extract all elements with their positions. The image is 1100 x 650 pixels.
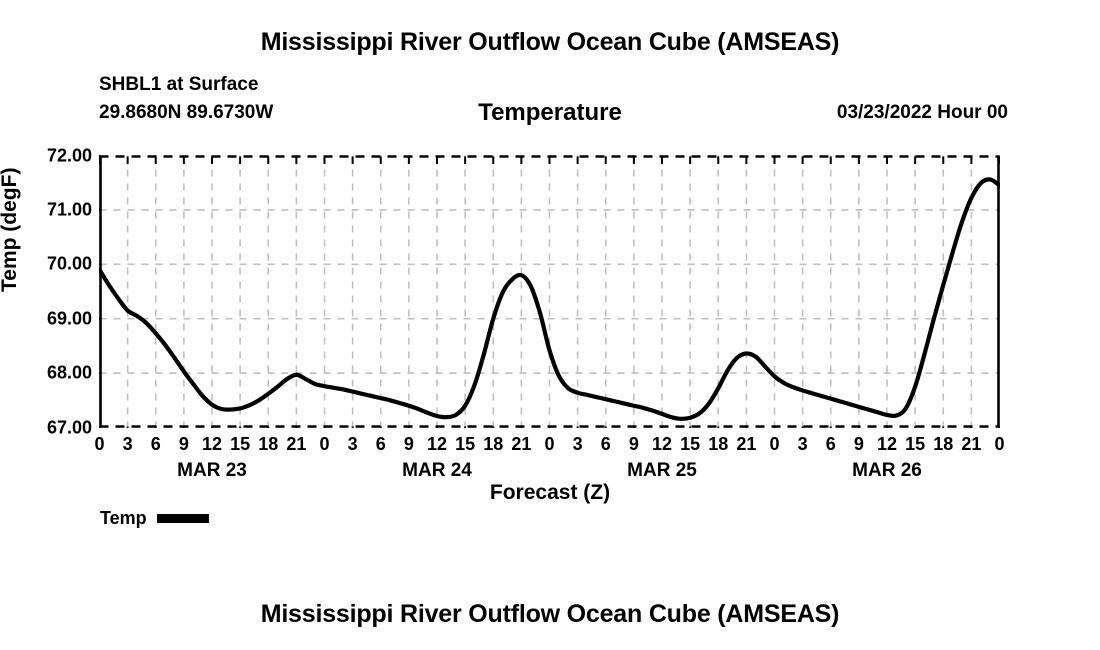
x-tick-label: 21	[286, 434, 306, 455]
x-tick-label: 0	[994, 434, 1004, 455]
y-tick-label: 68.00	[2, 363, 92, 384]
x-tick-label: 9	[404, 434, 414, 455]
x-tick-label: 15	[230, 434, 250, 455]
x-day-label: MAR 24	[402, 460, 472, 482]
x-tick-label: 21	[961, 434, 981, 455]
legend-label-temp: Temp	[100, 508, 147, 529]
x-tick-label: 12	[427, 434, 447, 455]
temperature-line-chart	[99, 155, 1000, 428]
x-day-label: MAR 23	[177, 460, 247, 482]
x-tick-label: 18	[258, 434, 278, 455]
y-tick-label: 72.00	[2, 145, 92, 166]
chart-legend: Temp	[100, 508, 209, 529]
x-tick-label: 3	[573, 434, 583, 455]
y-tick-label: 69.00	[2, 308, 92, 329]
axis-frame	[100, 156, 1000, 428]
station-label: SHBL1 at Surface	[99, 74, 258, 96]
page-title: Mississippi River Outflow Ocean Cube (AM…	[0, 28, 1100, 57]
x-tick-label: 3	[123, 434, 133, 455]
x-tick-label: 3	[798, 434, 808, 455]
vertical-gridlines	[128, 156, 972, 428]
x-tick-label: 21	[736, 434, 756, 455]
x-tick-label: 6	[826, 434, 836, 455]
x-tick-label: 3	[348, 434, 358, 455]
x-tick-label: 0	[94, 434, 104, 455]
axis-ticks	[99, 156, 1000, 429]
x-tick-label: 12	[877, 434, 897, 455]
x-tick-label: 12	[652, 434, 672, 455]
plot-area	[99, 155, 1000, 428]
x-tick-label: 0	[544, 434, 554, 455]
y-tick-label: 67.00	[2, 417, 92, 438]
x-tick-label: 21	[511, 434, 531, 455]
x-tick-label: 15	[455, 434, 475, 455]
chart-page: Mississippi River Outflow Ocean Cube (AM…	[0, 0, 1100, 650]
legend-swatch-temp	[157, 514, 209, 523]
x-tick-label: 9	[179, 434, 189, 455]
forecast-datetime-label: 03/23/2022 Hour 00	[837, 102, 1008, 124]
x-tick-label: 9	[629, 434, 639, 455]
x-tick-label: 18	[483, 434, 503, 455]
y-axis-title: Temp (degF)	[0, 168, 22, 292]
x-day-label: MAR 25	[627, 460, 697, 482]
x-tick-label: 18	[933, 434, 953, 455]
x-day-label: MAR 26	[852, 460, 922, 482]
x-tick-label: 12	[202, 434, 222, 455]
x-tick-label: 6	[151, 434, 161, 455]
x-tick-label: 18	[708, 434, 728, 455]
x-tick-label: 6	[601, 434, 611, 455]
x-tick-label: 6	[376, 434, 386, 455]
x-tick-label: 9	[854, 434, 864, 455]
x-tick-label: 0	[319, 434, 329, 455]
x-tick-label: 15	[905, 434, 925, 455]
x-tick-label: 0	[769, 434, 779, 455]
x-tick-label: 15	[680, 434, 700, 455]
x-axis-title: Forecast (Z)	[0, 481, 1100, 505]
page-footer: Mississippi River Outflow Ocean Cube (AM…	[0, 600, 1100, 629]
